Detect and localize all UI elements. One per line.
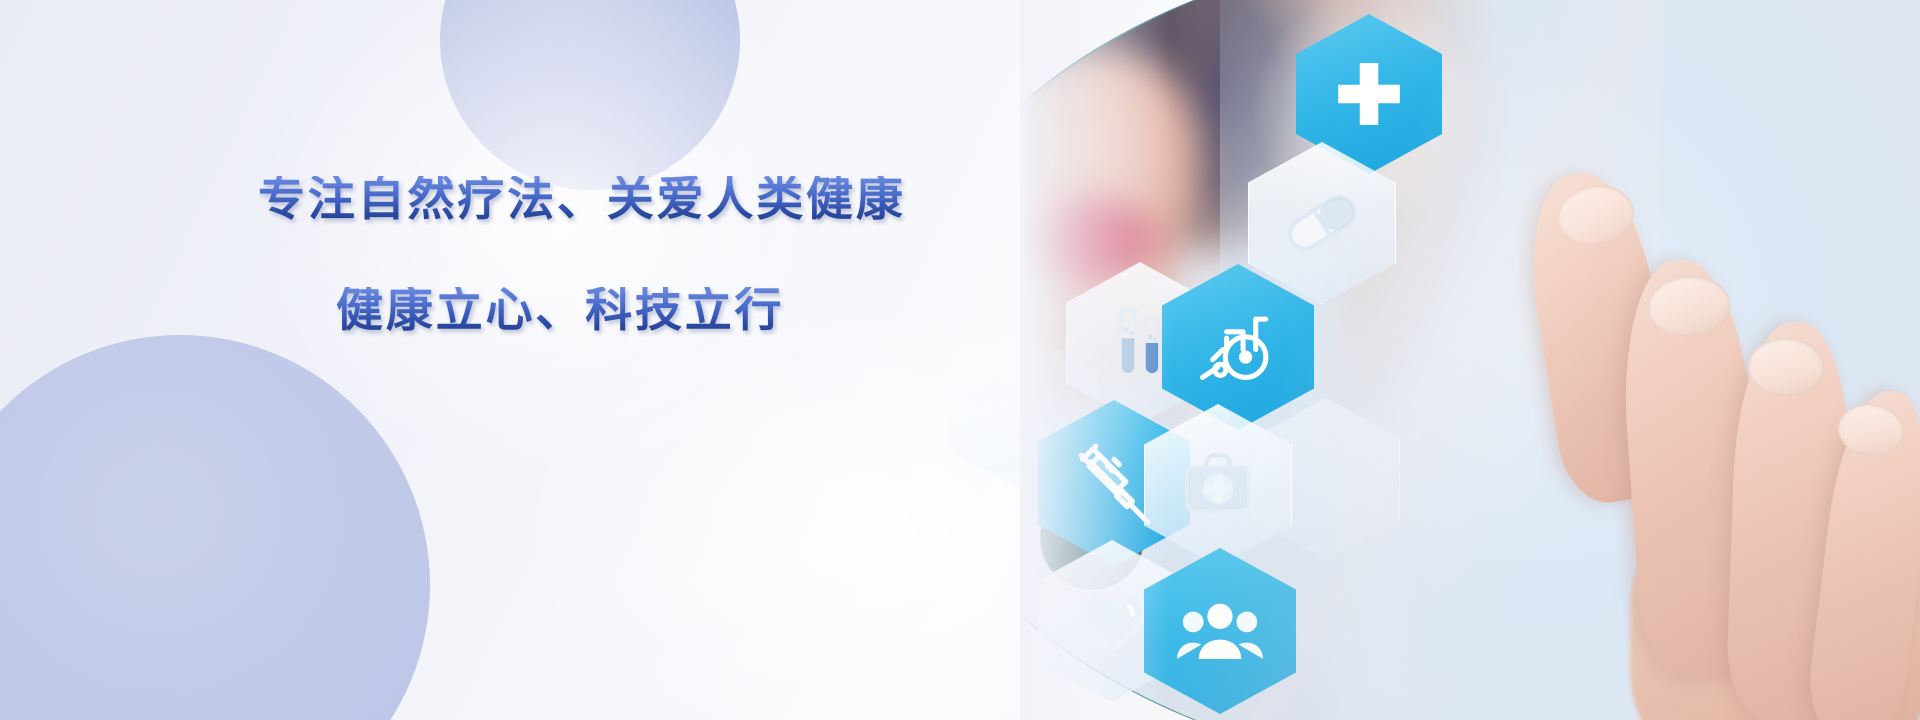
people-group-icon [1177,600,1263,662]
wheelchair-icon [1197,309,1279,385]
headline-block: 专注自然疗法、关爱人类健康 健康立心、科技立行 [258,176,958,334]
syringe-icon [1072,441,1156,525]
first-aid-bag-icon [1179,449,1257,521]
medical-cross-icon [1332,57,1406,131]
headline-line-1: 专注自然疗法、关爱人类健康 [258,176,958,223]
hero-banner: 专注自然疗法、关爱人类健康 健康立心、科技立行 [0,0,1920,720]
heart-icon [1073,585,1151,657]
headline-line-2: 健康立心、科技立行 [336,287,958,334]
hexagon-first-aid-bag [1144,404,1292,566]
pill-capsule-icon [1282,183,1362,263]
medical-hexagon-cluster [1100,0,1660,720]
